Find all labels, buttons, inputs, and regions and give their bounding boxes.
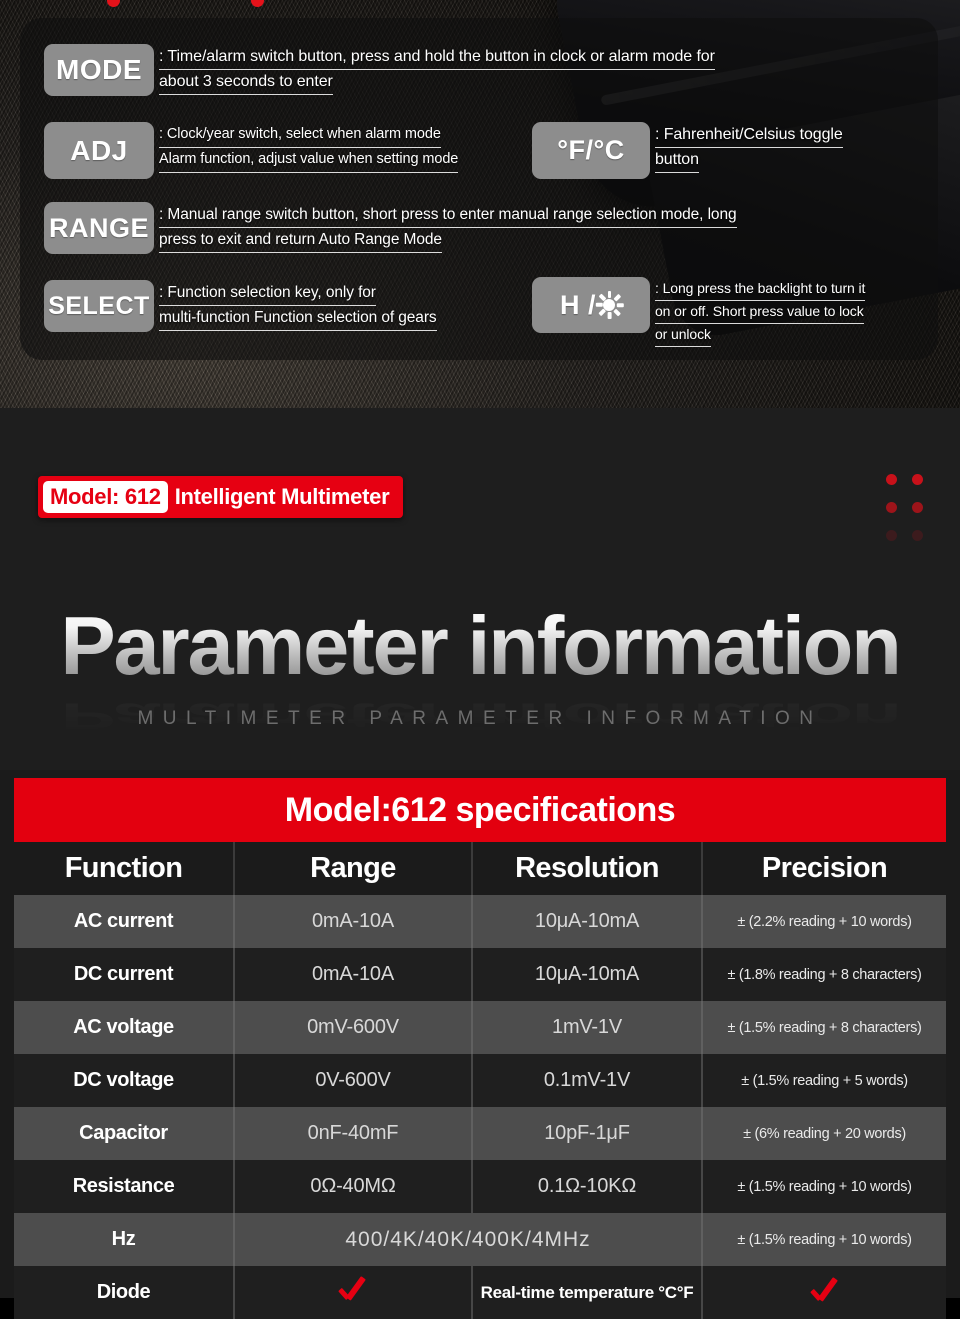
legend-line: : Long press the backlight to turn it bbox=[655, 278, 865, 301]
cell-function: DC current bbox=[14, 948, 234, 1001]
legend-text-range: : Manual range switch button, short pres… bbox=[154, 203, 737, 253]
cell-function: Hz bbox=[14, 1213, 234, 1266]
decor-dot bbox=[886, 502, 897, 513]
key-cap-hold-backlight[interactable]: H / bbox=[532, 277, 650, 333]
legend-line: : Fahrenheit/Celsius toggle bbox=[655, 123, 843, 148]
cell-precision-check bbox=[702, 1266, 946, 1319]
column-header-function: Function bbox=[14, 842, 234, 895]
cell-resolution: 10pF-1μF bbox=[472, 1107, 702, 1160]
legend-line: : Function selection key, only for bbox=[159, 281, 376, 306]
legend-row-adj: ADJ : Clock/year switch, select when ala… bbox=[44, 122, 458, 179]
decor-dot bbox=[912, 474, 923, 485]
decor-dot-grid bbox=[886, 474, 938, 558]
table-row: AC current 0mA-10A 10μA-10mA ± (2.2% rea… bbox=[14, 895, 946, 948]
legend-row-fahrenheit-celsius: °F/°C : Fahrenheit/Celsius toggle button bbox=[532, 122, 843, 179]
cell-range: 400/4K/40K/400K/4MHz bbox=[234, 1213, 702, 1266]
column-header-precision: Precision bbox=[702, 842, 946, 895]
table-row: Capacitor 0nF-40mF 10pF-1μF ± (6% readin… bbox=[14, 1107, 946, 1160]
key-cap-hold-backlight-label: H / bbox=[560, 290, 596, 321]
model-badge-title: Intelligent Multimeter bbox=[175, 484, 390, 510]
key-cap-mode[interactable]: MODE bbox=[44, 44, 154, 96]
product-photo-section: MODE : Time/alarm switch button, press a… bbox=[0, 0, 960, 408]
legend-row-mode: MODE : Time/alarm switch button, press a… bbox=[44, 44, 715, 96]
page-title-wrap: Parameter information bbox=[0, 600, 960, 692]
cell-function: Diode bbox=[14, 1266, 234, 1319]
legend-text-adj: : Clock/year switch, select when alarm m… bbox=[154, 123, 458, 173]
legend-line: multi-function Function selection of gea… bbox=[159, 306, 437, 331]
legend-line: about 3 seconds to enter bbox=[159, 70, 333, 95]
cell-function: AC voltage bbox=[14, 1001, 234, 1054]
decor-dot bbox=[886, 530, 897, 541]
cell-range: 0V-600V bbox=[234, 1054, 472, 1107]
table-row: Hz 400/4K/40K/400K/4MHz ± (1.5% reading … bbox=[14, 1213, 946, 1266]
table-row: AC voltage 0mV-600V 1mV-1V ± (1.5% readi… bbox=[14, 1001, 946, 1054]
legend-line: press to exit and return Auto Range Mode bbox=[159, 228, 442, 253]
model-number-chip: Model: 612 bbox=[43, 481, 168, 513]
cell-resolution: Real-time temperature °C°F bbox=[472, 1266, 702, 1319]
table-caption: Model:612 specifications bbox=[14, 778, 946, 842]
cell-precision: ± (1.5% reading + 8 characters) bbox=[702, 1001, 946, 1054]
key-cap-select[interactable]: SELECT bbox=[44, 280, 154, 332]
sun-icon bbox=[596, 292, 622, 318]
cell-function: DC voltage bbox=[14, 1054, 234, 1107]
cell-range: 0mV-600V bbox=[234, 1001, 472, 1054]
column-header-resolution: Resolution bbox=[472, 842, 702, 895]
cell-precision: ± (1.5% reading + 5 words) bbox=[702, 1054, 946, 1107]
model-badge: Model: 612 Intelligent Multimeter bbox=[38, 476, 403, 518]
cell-resolution: 1mV-1V bbox=[472, 1001, 702, 1054]
key-cap-range[interactable]: RANGE bbox=[44, 202, 154, 254]
cell-function: AC current bbox=[14, 895, 234, 948]
cell-range: 0mA-10A bbox=[234, 948, 472, 1001]
legend-text-fahrenheit-celsius: : Fahrenheit/Celsius toggle button bbox=[650, 123, 843, 173]
cell-range: 0mA-10A bbox=[234, 895, 472, 948]
cell-precision: ± (1.5% reading + 10 words) bbox=[702, 1160, 946, 1213]
legend-text-hold-backlight: : Long press the backlight to turn it on… bbox=[650, 278, 865, 347]
legend-row-range: RANGE : Manual range switch button, shor… bbox=[44, 202, 737, 254]
specifications-table-block: Model:612 specifications Function Range … bbox=[14, 778, 946, 1319]
legend-line: button bbox=[655, 148, 699, 173]
decor-dot bbox=[912, 530, 923, 541]
parameter-information-header-section: Model: 612 Intelligent Multimeter Parame… bbox=[0, 408, 960, 770]
table-row: DC voltage 0V-600V 0.1mV-1V ± (1.5% read… bbox=[14, 1054, 946, 1107]
specifications-table: Function Range Resolution Precision AC c… bbox=[14, 842, 946, 1319]
table-row: DC current 0mA-10A 10μA-10mA ± (1.8% rea… bbox=[14, 948, 946, 1001]
decor-red-dot bbox=[251, 0, 264, 7]
cell-range-check bbox=[234, 1266, 472, 1319]
check-mark-icon bbox=[338, 1275, 368, 1305]
cell-function: Capacitor bbox=[14, 1107, 234, 1160]
decor-dot bbox=[912, 502, 923, 513]
cell-precision: ± (1.5% reading + 10 words) bbox=[702, 1213, 946, 1266]
cell-range: 0nF-40mF bbox=[234, 1107, 472, 1160]
legend-line: or unlock bbox=[655, 324, 711, 347]
cell-precision: ± (1.8% reading + 8 characters) bbox=[702, 948, 946, 1001]
cell-function: Resistance bbox=[14, 1160, 234, 1213]
page-subtitle: MULTIMETER PARAMETER INFORMATION bbox=[0, 708, 960, 730]
key-cap-adj[interactable]: ADJ bbox=[44, 122, 154, 179]
decor-red-dot bbox=[107, 0, 120, 7]
cell-resolution: 10μA-10mA bbox=[472, 895, 702, 948]
decor-dot bbox=[886, 474, 897, 485]
table-row: Diode Real-time temperature °C°F bbox=[14, 1266, 946, 1319]
legend-line: : Clock/year switch, select when alarm m… bbox=[159, 123, 441, 148]
legend-text-mode: : Time/alarm switch button, press and ho… bbox=[154, 45, 715, 95]
table-row: Resistance 0Ω-40MΩ 0.1Ω-10KΩ ± (1.5% rea… bbox=[14, 1160, 946, 1213]
legend-line: : Manual range switch button, short pres… bbox=[159, 203, 737, 228]
legend-line: : Time/alarm switch button, press and ho… bbox=[159, 45, 715, 70]
legend-line: on or off. Short press value to lock bbox=[655, 301, 864, 324]
legend-row-hold-backlight: H / : Long press the backlight to turn i… bbox=[532, 277, 865, 347]
table-header-row: Function Range Resolution Precision bbox=[14, 842, 946, 895]
check-mark-icon bbox=[810, 1276, 840, 1306]
legend-row-select: SELECT : Function selection key, only fo… bbox=[44, 280, 437, 332]
legend-text-select: : Function selection key, only for multi… bbox=[154, 281, 437, 331]
cell-precision: ± (6% reading + 20 words) bbox=[702, 1107, 946, 1160]
cell-resolution: 10μA-10mA bbox=[472, 948, 702, 1001]
cell-resolution: 0.1mV-1V bbox=[472, 1054, 702, 1107]
key-cap-fahrenheit-celsius[interactable]: °F/°C bbox=[532, 122, 650, 179]
cell-precision: ± (2.2% reading + 10 words) bbox=[702, 895, 946, 948]
column-header-range: Range bbox=[234, 842, 472, 895]
cell-resolution: 0.1Ω-10KΩ bbox=[472, 1160, 702, 1213]
legend-line: Alarm function, adjust value when settin… bbox=[159, 148, 458, 173]
cell-range: 0Ω-40MΩ bbox=[234, 1160, 472, 1213]
page-title: Parameter information bbox=[60, 600, 899, 692]
